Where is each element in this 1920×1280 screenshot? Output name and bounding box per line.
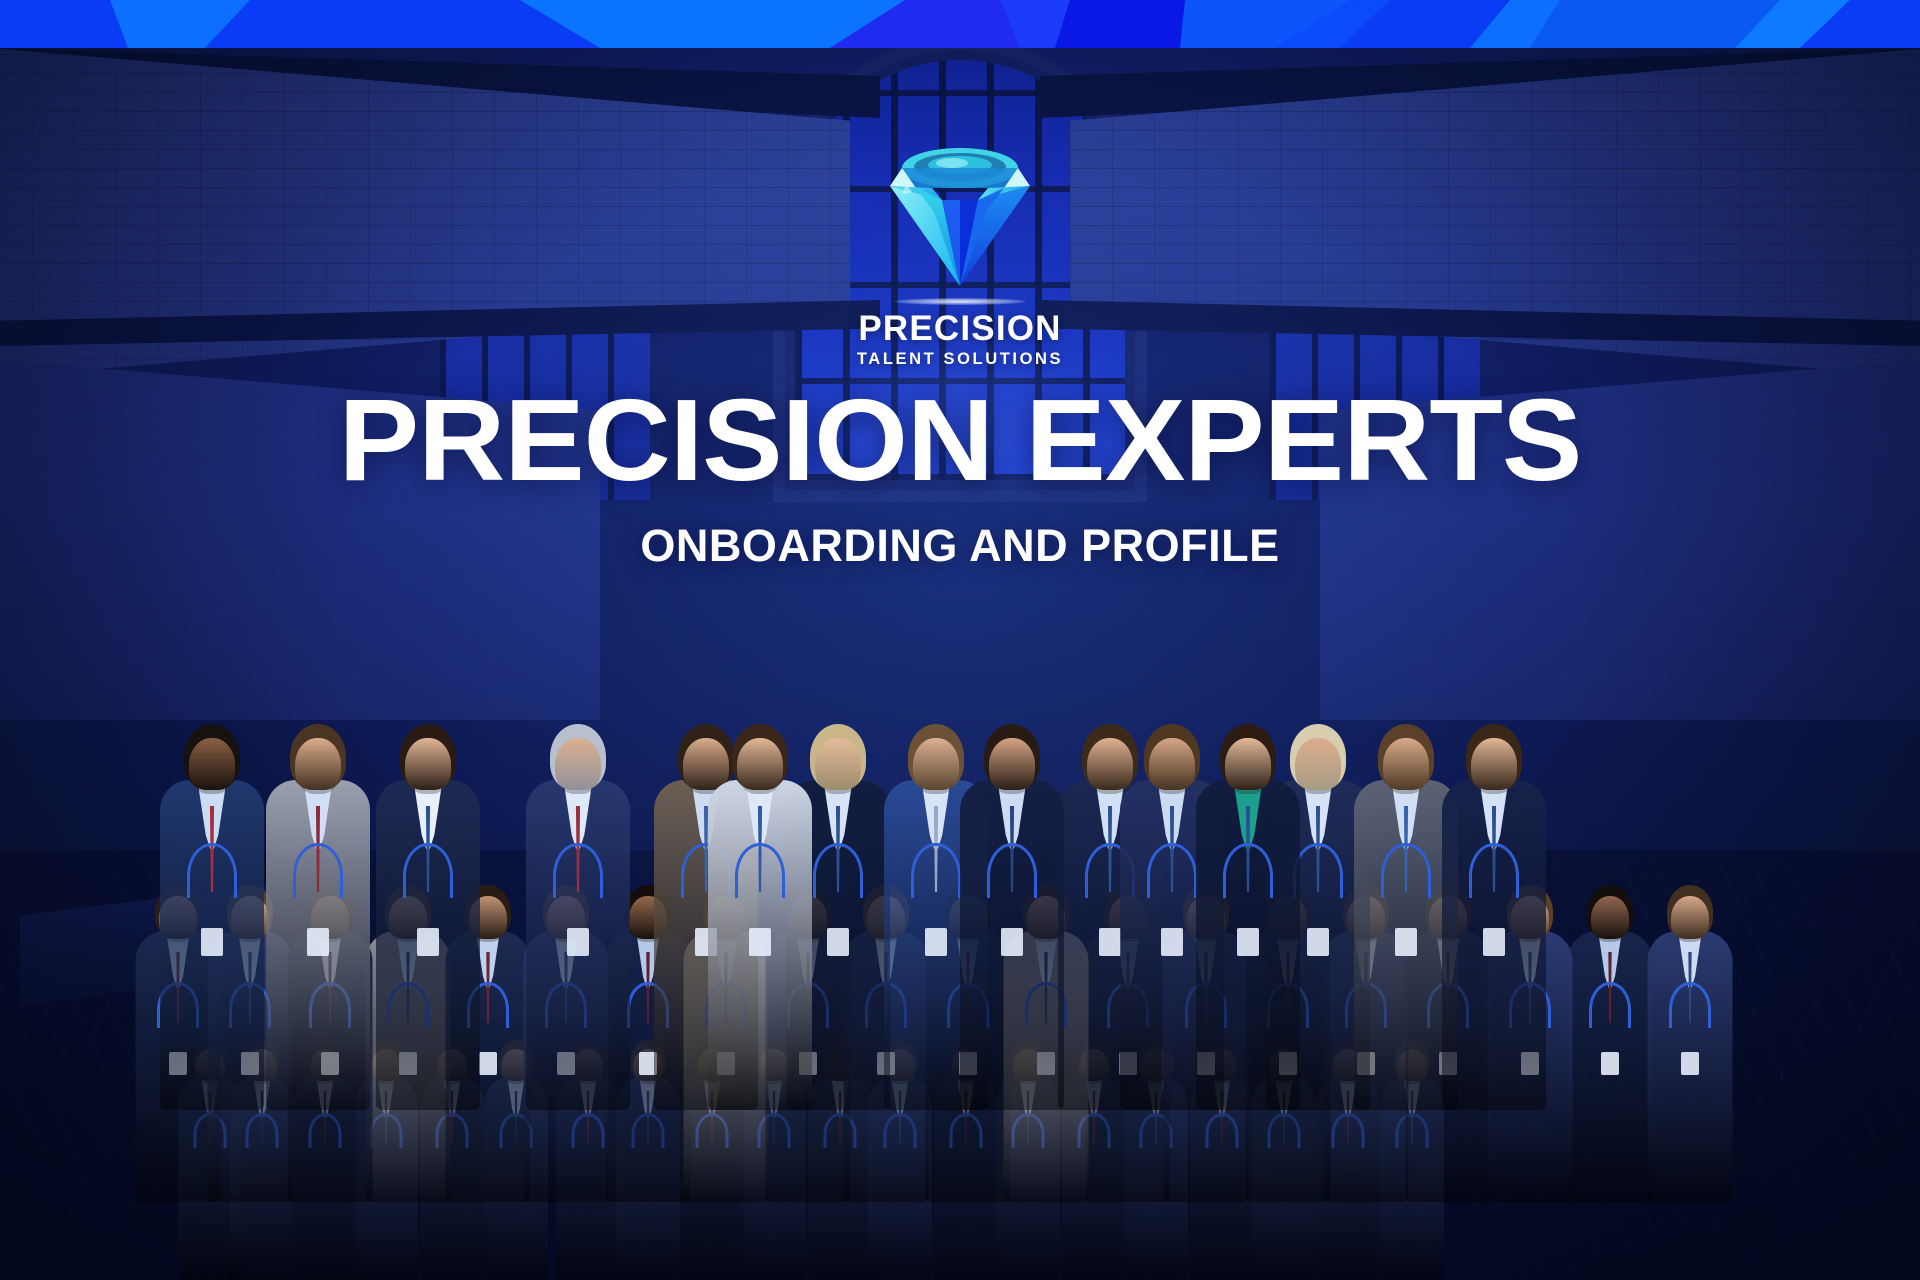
attendee-head	[1383, 738, 1429, 794]
attendee	[160, 724, 264, 1110]
attendee-badge	[1099, 928, 1121, 956]
attendee	[960, 724, 1064, 1110]
attendee-badge	[1161, 928, 1183, 956]
attendee-badge	[749, 928, 771, 956]
attendee-head	[555, 738, 601, 794]
attendee	[266, 724, 370, 1110]
attendee-head	[913, 738, 959, 794]
presentation-slide: PRECISION TALENT SOLUTIONS PRECISION EXP…	[0, 0, 1920, 1280]
attendee-head	[1295, 738, 1341, 794]
attendee-badge	[479, 1052, 497, 1075]
attendee	[708, 724, 812, 1110]
attendee-head	[405, 738, 451, 794]
attendee	[1196, 724, 1300, 1110]
diamond-gem-icon	[872, 140, 1048, 292]
attendee-head	[1591, 896, 1629, 942]
attendee-head	[295, 738, 341, 794]
attendee-badge	[925, 928, 947, 956]
attendee	[526, 724, 630, 1110]
banner-shape-0	[0, 0, 128, 48]
attendee-head	[1671, 896, 1709, 942]
attendee	[376, 724, 480, 1110]
attendee-head	[737, 738, 783, 794]
geometric-banner	[0, 0, 1920, 48]
attendee	[1568, 885, 1653, 1202]
attendee-badge	[1001, 928, 1023, 956]
attendee-badge	[201, 928, 223, 956]
attendee-head	[1471, 738, 1517, 794]
page-subtitle: ONBOARDING AND PROFILE	[0, 520, 1920, 572]
gem-reflection-line	[894, 298, 1026, 305]
attendee-lanyard	[1669, 982, 1711, 1028]
attendee-lanyard	[1589, 982, 1631, 1028]
banner-shapes	[0, 0, 1920, 48]
attendee	[1648, 885, 1733, 1202]
attendee-badge	[827, 928, 849, 956]
attendee-badge	[1681, 1052, 1699, 1075]
page-title: PRECISION EXPERTS	[0, 382, 1920, 498]
attendee	[1442, 724, 1546, 1110]
attendee-badge	[567, 928, 589, 956]
headline-block: PRECISION EXPERTS ONBOARDING AND PROFILE	[0, 382, 1920, 572]
attendee-badge	[1395, 928, 1417, 956]
attendee-badge	[417, 928, 439, 956]
attendee-badge	[1307, 928, 1329, 956]
logo-wordmark: PRECISION	[790, 311, 1130, 347]
brand-logo: PRECISION TALENT SOLUTIONS	[790, 140, 1130, 368]
attendee-badge	[1601, 1052, 1619, 1075]
attendee-head	[189, 738, 235, 794]
attendee-badge	[1483, 928, 1505, 956]
logo-tagline: TALENT SOLUTIONS	[790, 350, 1130, 368]
attendee-head	[1149, 738, 1195, 794]
attendee-head	[989, 738, 1035, 794]
attendee-head	[1225, 738, 1271, 794]
attendee-badge	[307, 928, 329, 956]
attendee-head	[815, 738, 861, 794]
attendee-badge	[1237, 928, 1259, 956]
